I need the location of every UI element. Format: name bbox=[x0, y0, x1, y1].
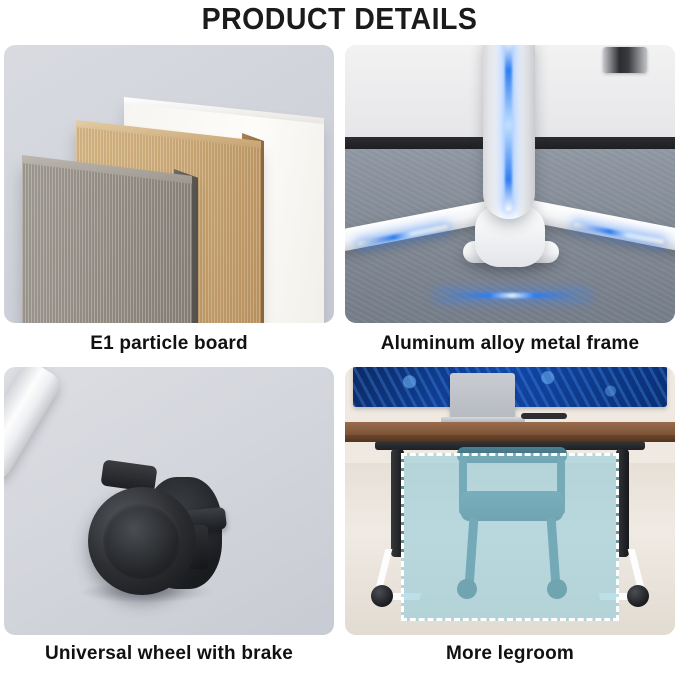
legroom-highlight-area bbox=[401, 453, 619, 621]
laptop-screen bbox=[450, 373, 515, 419]
desk-top bbox=[345, 422, 675, 436]
blue-glow-vertical bbox=[505, 45, 512, 211]
caption-metal-frame: Aluminum alloy metal frame bbox=[345, 333, 675, 355]
panel-metal-frame[interactable]: Aluminum alloy metal frame bbox=[345, 45, 675, 323]
particle-board-image bbox=[4, 45, 334, 323]
panel-legroom[interactable]: More legroom bbox=[345, 367, 675, 635]
panel-particle-board[interactable]: E1 particle board bbox=[4, 45, 334, 323]
product-details-infographic: PRODUCT DETAILS E1 particle board bbox=[0, 0, 679, 673]
panel-grid: E1 particle board Aluminum alloy metal f… bbox=[0, 41, 679, 673]
caption-particle-board: E1 particle board bbox=[4, 333, 334, 355]
panel-universal-wheel[interactable]: Universal wheel with brake bbox=[4, 367, 334, 635]
universal-wheel-image bbox=[4, 367, 334, 635]
legroom-image bbox=[345, 367, 675, 635]
page-title: PRODUCT DETAILS bbox=[27, 2, 652, 38]
caption-legroom: More legroom bbox=[345, 643, 675, 665]
desk-leg bbox=[4, 367, 64, 483]
metal-frame-image bbox=[345, 45, 675, 323]
desk-caster-right bbox=[627, 585, 649, 607]
caption-universal-wheel: Universal wheel with brake bbox=[4, 643, 334, 665]
caster-wheel-hub bbox=[103, 503, 181, 579]
desk-caster-left bbox=[371, 585, 393, 607]
blue-glow-front bbox=[437, 293, 587, 298]
cable-port bbox=[603, 47, 647, 73]
gray-board bbox=[22, 163, 192, 323]
